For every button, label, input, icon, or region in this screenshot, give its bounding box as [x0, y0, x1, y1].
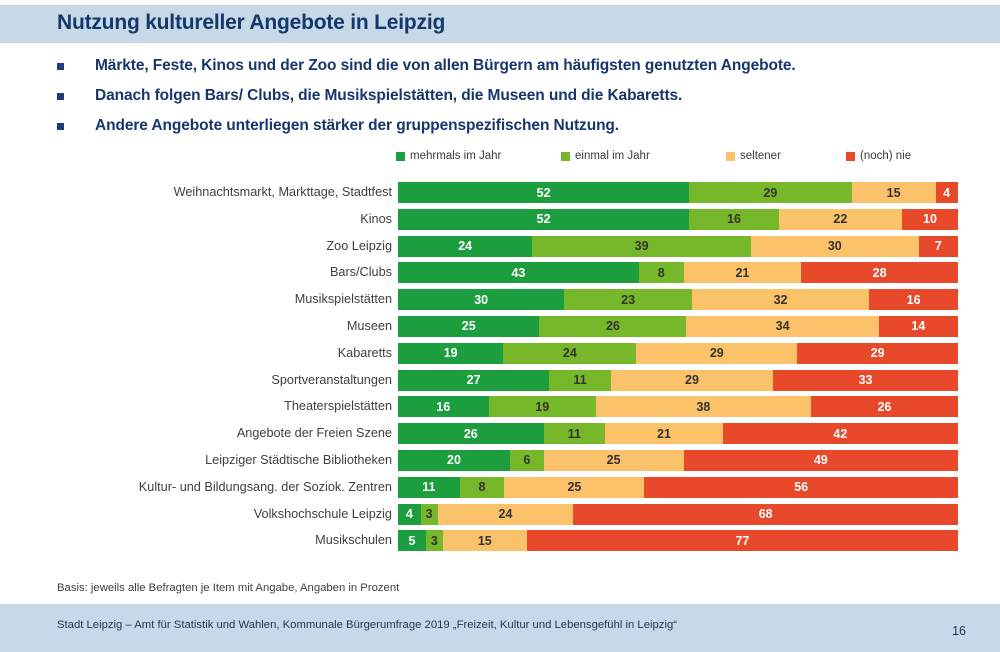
- bar-segment: 68: [573, 504, 958, 525]
- chart-row: Musikschulen531577: [0, 529, 1000, 556]
- bar-track: 16193826: [398, 396, 958, 417]
- category-label: Kultur- und Bildungsang. der Soziok. Zen…: [52, 479, 392, 495]
- bar-track: 52162210: [398, 209, 958, 230]
- bar-segment: 16: [398, 396, 489, 417]
- bar-segment: 5: [398, 530, 426, 551]
- chart-legend: mehrmals im Jahreinmal im Jahrseltener(n…: [396, 150, 958, 168]
- category-label: Museen: [52, 318, 392, 334]
- bar-segment: 16: [689, 209, 779, 230]
- bar-segment: 42: [723, 423, 958, 444]
- bar-segment: 33: [773, 370, 958, 391]
- chart-row: Bars/Clubs4382128: [0, 261, 1000, 288]
- chart-row: Museen25263414: [0, 315, 1000, 342]
- bar-segment: 29: [611, 370, 773, 391]
- bar-segment: 8: [639, 262, 684, 283]
- bar-segment: 15: [443, 530, 527, 551]
- bar-track: 25263414: [398, 316, 958, 337]
- bar-segment: 7: [919, 236, 958, 257]
- bar-track: 2439307: [398, 236, 958, 257]
- bar-segment: 20: [398, 450, 510, 471]
- legend-label: einmal im Jahr: [575, 150, 650, 162]
- bullet-square-icon: [57, 63, 64, 70]
- chart-row: Leipziger Städtische Bibliotheken2062549: [0, 449, 1000, 476]
- legend-label: (noch) nie: [860, 150, 911, 162]
- bar-segment: 43: [398, 262, 639, 283]
- chart-row: Weihnachtsmarkt, Markttage, Stadtfest522…: [0, 181, 1000, 208]
- bar-segment: 56: [644, 477, 958, 498]
- legend-swatch-icon: [726, 152, 735, 161]
- bar-track: 5229154: [398, 182, 958, 203]
- bar-segment: 52: [398, 182, 689, 203]
- page-title: Nutzung kultureller Angebote in Leipzig: [57, 11, 445, 35]
- bar-segment: 38: [596, 396, 811, 417]
- bar-segment: 39: [532, 236, 750, 257]
- bar-segment: 27: [398, 370, 549, 391]
- legend-swatch-icon: [396, 152, 405, 161]
- bar-segment: 26: [539, 316, 686, 337]
- legend-label: seltener: [740, 150, 781, 162]
- bar-segment: 29: [689, 182, 851, 203]
- bullet-square-icon: [57, 123, 64, 130]
- bar-segment: 19: [398, 343, 503, 364]
- bar-segment: 11: [544, 423, 606, 444]
- bar-segment: 25: [504, 477, 644, 498]
- bar-segment: 3: [421, 504, 438, 525]
- legend-swatch-icon: [846, 152, 855, 161]
- bullet-list: Märkte, Feste, Kinos und der Zoo sind di…: [57, 56, 957, 146]
- bar-segment: 19: [489, 396, 596, 417]
- bar-segment: 16: [869, 289, 958, 310]
- bar-track: 2062549: [398, 450, 958, 471]
- bar-segment: 6: [510, 450, 544, 471]
- chart-row: Sportveranstaltungen27112933: [0, 369, 1000, 396]
- category-label: Angebote der Freien Szene: [52, 425, 392, 441]
- bar-segment: 11: [398, 477, 460, 498]
- bullet-text: Danach folgen Bars/ Clubs, die Musikspie…: [95, 86, 682, 106]
- bullet-square-icon: [57, 93, 64, 100]
- bar-segment: 29: [797, 343, 958, 364]
- chart-row: Zoo Leipzig2439307: [0, 235, 1000, 262]
- legend-item-3[interactable]: (noch) nie: [846, 150, 911, 162]
- bullet-text: Andere Angebote unterliegen stärker der …: [95, 116, 619, 136]
- bar-segment: 15: [852, 182, 936, 203]
- bar-segment: 10: [902, 209, 958, 230]
- legend-item-1[interactable]: einmal im Jahr: [561, 150, 650, 162]
- slide-root: { "header": { "title": "Nutzung kulturel…: [0, 0, 1000, 652]
- bar-track: 26112142: [398, 423, 958, 444]
- bullet-text: Märkte, Feste, Kinos und der Zoo sind di…: [95, 56, 796, 76]
- category-label: Leipziger Städtische Bibliotheken: [52, 452, 392, 468]
- chart-row: Theaterspielstätten16193826: [0, 395, 1000, 422]
- bar-segment: 23: [564, 289, 692, 310]
- category-label: Musikschulen: [52, 532, 392, 548]
- legend-label: mehrmals im Jahr: [410, 150, 501, 162]
- footer-source: Stadt Leipzig – Amt für Statistik und Wa…: [57, 619, 677, 631]
- bar-segment: 29: [636, 343, 797, 364]
- bar-track: 30233216: [398, 289, 958, 310]
- category-label: Sportveranstaltungen: [52, 372, 392, 388]
- bar-segment: 24: [438, 504, 574, 525]
- chart-row: Kultur- und Bildungsang. der Soziok. Zen…: [0, 476, 1000, 503]
- bar-segment: 26: [398, 423, 544, 444]
- bar-segment: 3: [426, 530, 443, 551]
- legend-item-2[interactable]: seltener: [726, 150, 781, 162]
- bar-segment: 11: [549, 370, 611, 391]
- bar-track: 4382128: [398, 262, 958, 283]
- bar-segment: 22: [779, 209, 902, 230]
- category-label: Volkshochschule Leipzig: [52, 506, 392, 522]
- category-label: Theaterspielstätten: [52, 398, 392, 414]
- bar-segment: 4: [398, 504, 421, 525]
- bar-segment: 24: [398, 236, 532, 257]
- category-label: Kabaretts: [52, 345, 392, 361]
- bar-segment: 24: [503, 343, 636, 364]
- bar-segment: 8: [460, 477, 505, 498]
- bar-segment: 28: [801, 262, 958, 283]
- bar-track: 432468: [398, 504, 958, 525]
- basis-note: Basis: jeweils alle Befragten je Item mi…: [57, 582, 399, 594]
- bar-segment: 34: [686, 316, 878, 337]
- chart-row: Musikspielstätten30233216: [0, 288, 1000, 315]
- bar-segment: 4: [936, 182, 958, 203]
- bar-track: 19242929: [398, 343, 958, 364]
- legend-swatch-icon: [561, 152, 570, 161]
- bar-track: 1182556: [398, 477, 958, 498]
- chart-row: Volkshochschule Leipzig432468: [0, 503, 1000, 530]
- bar-segment: 21: [684, 262, 802, 283]
- chart-row: Kinos52162210: [0, 208, 1000, 235]
- chart-row: Kabaretts19242929: [0, 342, 1000, 369]
- bar-segment: 52: [398, 209, 689, 230]
- category-label: Musikspielstätten: [52, 291, 392, 307]
- bar-segment: 25: [544, 450, 684, 471]
- category-label: Kinos: [52, 211, 392, 227]
- bar-segment: 14: [879, 316, 958, 337]
- bar-segment: 49: [684, 450, 958, 471]
- bar-segment: 32: [692, 289, 869, 310]
- chart-row: Angebote der Freien Szene26112142: [0, 422, 1000, 449]
- bullet-item: Andere Angebote unterliegen stärker der …: [57, 116, 957, 146]
- page-number: 16: [952, 624, 966, 638]
- stacked-bar-chart: Weihnachtsmarkt, Markttage, Stadtfest522…: [0, 181, 1000, 556]
- bar-segment: 21: [605, 423, 723, 444]
- bar-segment: 25: [398, 316, 539, 337]
- bar-segment: 30: [398, 289, 564, 310]
- category-label: Bars/Clubs: [52, 264, 392, 280]
- category-label: Weihnachtsmarkt, Markttage, Stadtfest: [52, 184, 392, 200]
- bar-track: 531577: [398, 530, 958, 551]
- bar-segment: 77: [527, 530, 958, 551]
- bar-segment: 30: [751, 236, 919, 257]
- bullet-item: Danach folgen Bars/ Clubs, die Musikspie…: [57, 86, 957, 116]
- bar-segment: 26: [811, 396, 958, 417]
- bar-track: 27112933: [398, 370, 958, 391]
- category-label: Zoo Leipzig: [52, 238, 392, 254]
- bullet-item: Märkte, Feste, Kinos und der Zoo sind di…: [57, 56, 957, 86]
- legend-item-0[interactable]: mehrmals im Jahr: [396, 150, 501, 162]
